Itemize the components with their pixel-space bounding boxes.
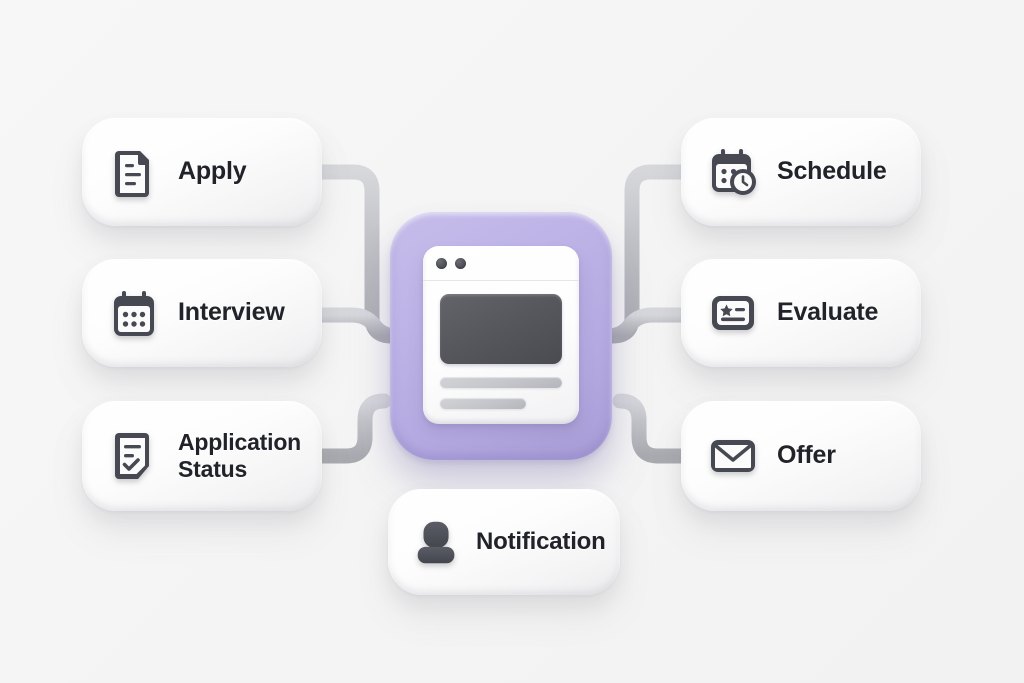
card-label-offer: Offer — [777, 441, 836, 471]
rating-card-icon — [705, 285, 761, 341]
card-label-evaluate: Evaluate — [777, 298, 878, 328]
hub-text-line-1 — [440, 377, 562, 388]
hub-titlebar — [423, 246, 579, 281]
hub-window-mockup — [423, 246, 579, 424]
central-hub[interactable] — [390, 212, 612, 460]
calendar-icon — [106, 285, 162, 341]
card-label-application-status: ApplicationStatus — [178, 429, 301, 483]
card-label-interview: Interview — [178, 298, 285, 328]
wire-offer — [620, 401, 687, 456]
wire-schedule — [613, 172, 687, 336]
document-icon — [106, 144, 162, 200]
user-icon — [410, 515, 464, 569]
document-check-icon — [106, 428, 162, 484]
node-card-interview[interactable]: Interview — [82, 259, 322, 367]
wire-apply — [316, 172, 391, 336]
card-label-apply: Apply — [178, 157, 246, 187]
node-card-apply[interactable]: Apply — [82, 118, 322, 226]
node-card-application-status[interactable]: ApplicationStatus — [82, 401, 322, 511]
hub-dot-2 — [455, 258, 466, 269]
hub-text-line-2 — [440, 398, 526, 409]
card-label-notification: Notification — [476, 528, 606, 556]
envelope-icon — [705, 428, 761, 484]
wire-interview — [316, 315, 396, 336]
node-card-schedule[interactable]: Schedule — [681, 118, 921, 226]
hub-screen-block — [440, 294, 562, 364]
node-card-offer[interactable]: Offer — [681, 401, 921, 511]
diagram-canvas: Apply Interview — [0, 0, 1024, 683]
calendar-clock-icon — [705, 144, 761, 200]
card-label-schedule: Schedule — [777, 157, 887, 187]
node-card-notification[interactable]: Notification — [388, 489, 620, 595]
wire-status — [316, 401, 384, 456]
node-card-evaluate[interactable]: Evaluate — [681, 259, 921, 367]
hub-dot-1 — [436, 258, 447, 269]
wire-evaluate — [608, 315, 687, 336]
